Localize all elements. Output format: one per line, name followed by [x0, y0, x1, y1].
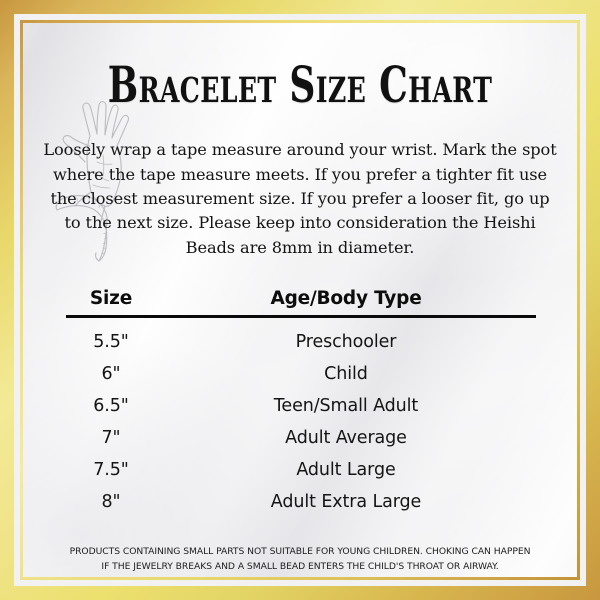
- cell-size: 8": [66, 492, 156, 512]
- column-header-size: Size: [66, 288, 156, 309]
- cell-age-body-type: Child: [156, 364, 536, 384]
- cell-age-body-type: Adult Large: [156, 460, 536, 480]
- disclaimer-line-2: IF THE JEWELRY BREAKS AND A SMALL BEAD E…: [36, 559, 564, 574]
- cell-age-body-type: Adult Extra Large: [156, 492, 536, 512]
- poster-content: Bracelet Size Chart Loosely wrap a tape …: [0, 0, 600, 600]
- table-row: 6" Child: [66, 358, 536, 390]
- cell-size: 6.5": [66, 396, 156, 416]
- table-row: 6.5" Teen/Small Adult: [66, 390, 536, 422]
- table-row: 5.5" Preschooler: [66, 326, 536, 358]
- cell-size: 7.5": [66, 460, 156, 480]
- cell-size: 6": [66, 364, 156, 384]
- cell-age-body-type: Teen/Small Adult: [156, 396, 536, 416]
- cell-size: 5.5": [66, 332, 156, 352]
- safety-disclaimer: PRODUCTS CONTAINING SMALL PARTS NOT SUIT…: [36, 544, 564, 574]
- disclaimer-line-1: PRODUCTS CONTAINING SMALL PARTS NOT SUIT…: [36, 544, 564, 559]
- table-header-divider: [66, 315, 536, 318]
- table-row: 7.5" Adult Large: [66, 454, 536, 486]
- size-table: Size Age/Body Type 5.5" Preschooler 6" C…: [66, 288, 536, 518]
- size-chart-poster: Bracelet Size Chart Loosely wrap a tape …: [0, 0, 600, 600]
- cell-age-body-type: Preschooler: [156, 332, 536, 352]
- column-header-age-body-type: Age/Body Type: [156, 288, 536, 309]
- table-row: 8" Adult Extra Large: [66, 486, 536, 518]
- cell-age-body-type: Adult Average: [156, 428, 536, 448]
- page-title: Bracelet Size Chart: [84, 60, 516, 110]
- table-header-row: Size Age/Body Type: [66, 288, 536, 315]
- cell-size: 7": [66, 428, 156, 448]
- instructions-paragraph: Loosely wrap a tape measure around your …: [40, 138, 560, 260]
- table-row: 7" Adult Average: [66, 422, 536, 454]
